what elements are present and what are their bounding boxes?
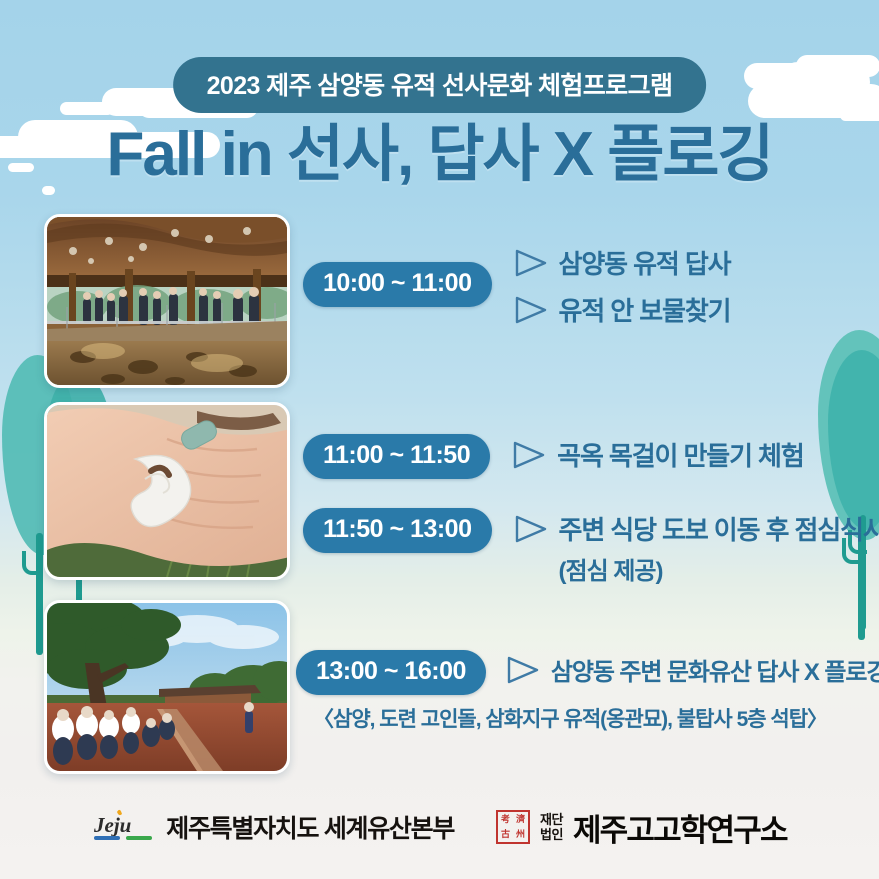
cloud-right-dash — [840, 110, 879, 121]
corporation-prefix-line1: 재단 — [540, 812, 563, 827]
excavation-pavilion-photo — [44, 214, 290, 388]
time-badge-2: 11:00 ~ 11:50 — [303, 434, 490, 479]
svg-text:Jeju: Jeju — [93, 813, 131, 837]
cloud-left-dot — [42, 186, 55, 195]
schedule-row-2: 11:00 ~ 11:50 곡옥 목걸이 만들기 체험 — [303, 434, 804, 479]
schedule-item-label: 삼양동 유적 답사 — [559, 244, 731, 281]
schedule-item: 곡옥 목걸이 만들기 체험 — [512, 436, 804, 473]
page-title: Fall in 선사, 답사 X 플로깅 — [107, 103, 773, 193]
play-triangle-icon — [514, 248, 548, 278]
time-badge-3: 11:50 ~ 13:00 — [303, 508, 492, 553]
cloud-left-dash — [8, 163, 34, 172]
schedule-item-sublabel: (점심 제공) — [559, 551, 879, 586]
corporation-prefix-line2: 법인 — [540, 827, 563, 842]
schedule-item-label: 곡옥 목걸이 만들기 체험 — [557, 436, 804, 473]
corporation-prefix: 재단 법인 — [540, 812, 563, 843]
seal-char: 州 — [516, 830, 525, 839]
institute-label: 제주고고학연구소 — [573, 805, 787, 850]
seal-stamp-icon: 考 濟 古 州 — [496, 810, 530, 844]
schedule-item: 유적 안 보물찾기 — [514, 291, 731, 328]
time-badge-1: 10:00 ~ 11:00 — [303, 262, 492, 307]
schedule-row-1: 10:00 ~ 11:00 삼양동 유적 답사 유적 안 보물찾기 — [303, 262, 731, 328]
seal-char: 古 — [501, 830, 510, 839]
schedule-item-label: 유적 안 보물찾기 — [559, 291, 731, 328]
schedule-item: 삼양동 유적 답사 — [514, 244, 731, 281]
gogok-pendant-photo — [44, 402, 290, 580]
schedule-row-3: 11:50 ~ 13:00 주변 식당 도보 이동 후 점심식사 (점심 제공) — [303, 508, 879, 586]
jeju-brand-logo: Jeju — [92, 808, 156, 846]
play-triangle-icon — [514, 514, 548, 544]
jeju-archaeology-institute-logo: 考 濟 古 州 재단 법인 제주고고학연구소 — [496, 805, 787, 850]
seal-char: 考 — [501, 815, 510, 824]
jeju-province-label: 제주특별자치도 세계유산본부 — [166, 809, 454, 845]
poster-root: 2023 제주 삼양동 유적 선사문화 체험프로그램 Fall in 선사, 답… — [0, 0, 879, 879]
outdoor-group-photo — [44, 600, 290, 774]
schedule-item: 주변 식당 도보 이동 후 점심식사 — [514, 510, 879, 547]
seal-char: 濟 — [516, 815, 525, 824]
schedule-row-4: 13:00 ~ 16:00 삼양동 주변 문화유산 답사 X 플로깅 — [296, 650, 879, 695]
tree-right-front — [828, 350, 879, 630]
schedule-item: 삼양동 주변 문화유산 답사 X 플로깅 — [506, 652, 879, 687]
footer-logos: Jeju 제주특별자치도 세계유산본부 考 濟 古 州 재단 법인 제주고고학연… — [0, 775, 879, 879]
schedule-item-label: 주변 식당 도보 이동 후 점심식사 — [559, 510, 879, 547]
play-triangle-icon — [514, 295, 548, 325]
play-triangle-icon — [506, 655, 540, 685]
play-triangle-icon — [512, 440, 546, 470]
schedule-note: 〈삼양, 도련 고인돌, 삼화지구 유적(옹관묘), 불탑사 5층 석탑〉 — [313, 703, 827, 733]
jeju-province-logo: Jeju 제주특별자치도 세계유산본부 — [92, 808, 454, 846]
time-badge-4: 13:00 ~ 16:00 — [296, 650, 486, 695]
schedule-item-label: 삼양동 주변 문화유산 답사 X 플로깅 — [551, 652, 879, 687]
